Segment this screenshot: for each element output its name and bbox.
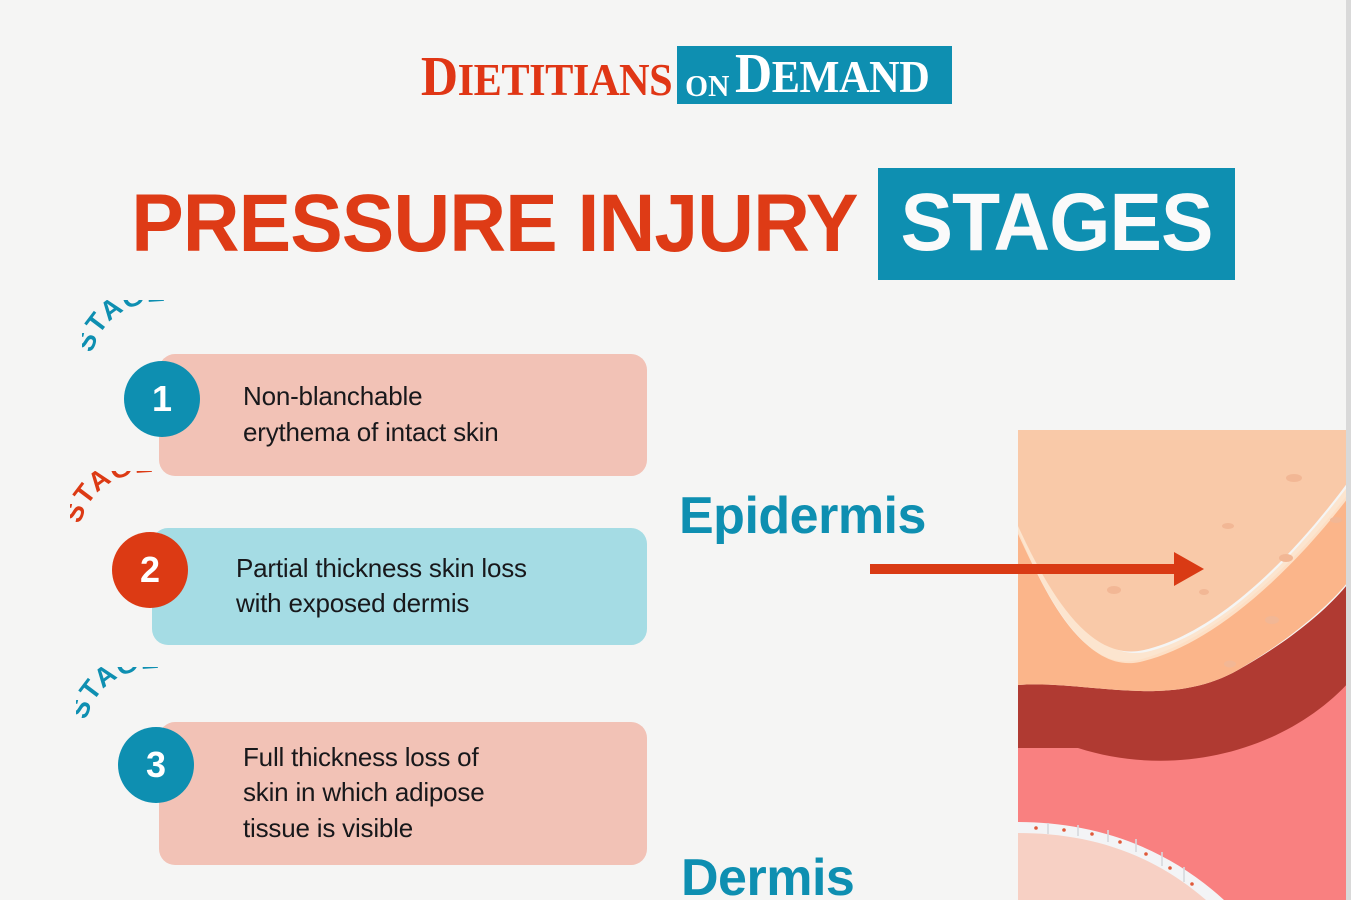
logo-ondemand-box: ON DEMAND	[677, 46, 953, 104]
dermis-label: Dermis	[681, 852, 854, 900]
page-title-red-part: PRESSURE INJURY	[131, 183, 863, 265]
stage-2-number: 2	[140, 549, 160, 591]
logo-dietitians-rest: IETITIANS	[457, 54, 672, 105]
page-title-highlight-box: STAGES	[878, 168, 1235, 280]
svg-text:STAGE: STAGE	[70, 471, 155, 526]
brand-logo: DIETITIANS ON DEMAND	[0, 46, 1351, 104]
logo-demand-cap: D	[735, 43, 772, 105]
logo-demand-rest: EMAND	[772, 51, 930, 102]
stage-2-description-box: Partial thickness skin loss with exposed…	[152, 528, 647, 645]
stage-3-arc-text: STAGE	[76, 667, 161, 722]
stage-2-description: Partial thickness skin loss with exposed…	[236, 551, 527, 623]
stage-3-number: 3	[146, 744, 166, 786]
stage-3-description: Full thickness loss of skin in which adi…	[243, 740, 485, 848]
page-title: PRESSURE INJURY STAGES	[0, 168, 1351, 280]
stage-3-number-badge: 3	[118, 727, 194, 803]
stage-1-number-badge: 1	[124, 361, 200, 437]
stage-1-description: Non-blanchable erythema of intact skin	[243, 379, 499, 451]
logo-on-text: ON	[685, 70, 729, 101]
epidermis-label: Epidermis	[679, 490, 926, 542]
svg-text:STAGE: STAGE	[82, 300, 167, 355]
stage-2-number-badge: 2	[112, 532, 188, 608]
stage-3-description-box: Full thickness loss of skin in which adi…	[159, 722, 647, 865]
skin-cross-section-illustration	[1018, 430, 1351, 900]
stage-1-arc-text: STAGE	[82, 300, 167, 355]
skin-layers-svg	[1018, 430, 1351, 900]
stage-1-description-box: Non-blanchable erythema of intact skin	[159, 354, 647, 476]
logo-dietitians-text: DIETITIANS	[420, 51, 671, 104]
page-edge-scrollbar[interactable]	[1346, 0, 1351, 900]
logo-dietitians-cap: D	[420, 46, 457, 108]
logo-demand-text: DEMAND	[735, 48, 929, 101]
epidermis-pointer-arrow-icon	[868, 546, 1208, 592]
svg-text:STAGE: STAGE	[76, 667, 161, 722]
infographic-page: DIETITIANS ON DEMAND PRESSURE INJURY STA…	[0, 0, 1351, 900]
stage-1-number: 1	[152, 378, 172, 420]
page-title-boxed-part: STAGES	[901, 182, 1213, 264]
stage-2-arc-text: STAGE	[70, 471, 155, 526]
